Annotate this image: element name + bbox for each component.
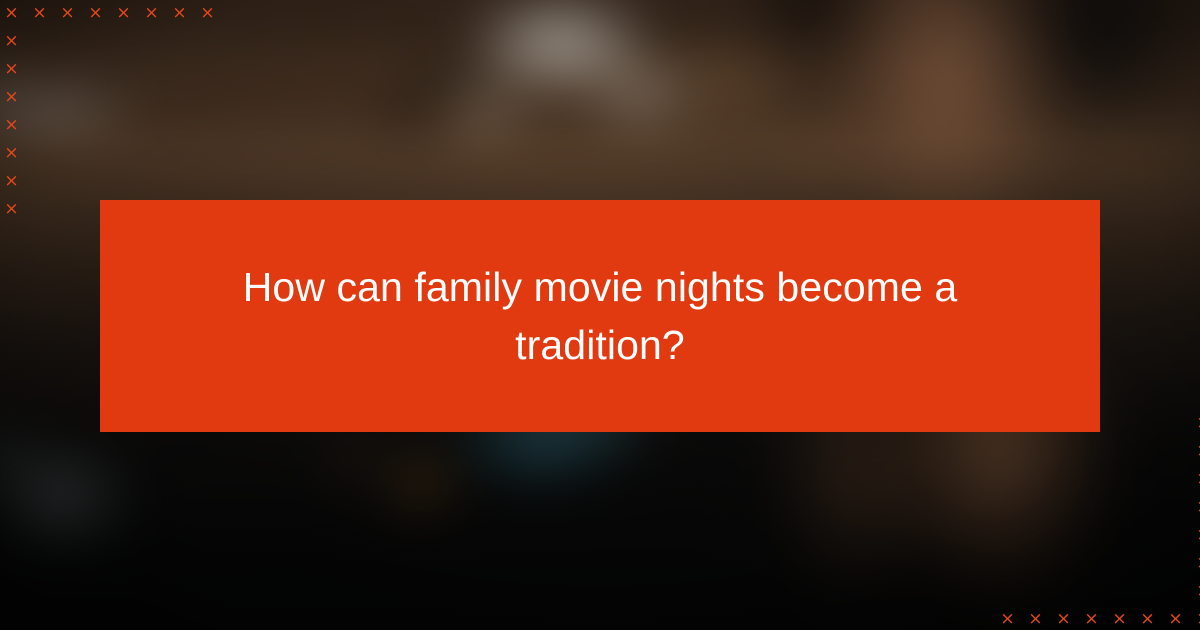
x-mark-icon: × [1196,528,1200,543]
x-mark-icon: × [1168,612,1183,627]
x-mark-icon: × [32,6,47,21]
x-mark-icon: × [1056,612,1071,627]
x-mark-icon: × [4,62,19,77]
banner-title: How can family movie nights become a tra… [220,258,980,374]
x-mark-icon: × [1196,556,1200,571]
x-mark-icon: × [4,174,19,189]
x-mark-icon: × [1196,500,1200,515]
x-mark-icon: × [4,6,19,21]
x-mark-icon: × [4,118,19,133]
x-mark-icon: × [4,90,19,105]
x-mark-icon: × [172,6,187,21]
x-mark-icon: × [1196,584,1200,599]
x-mark-icon: × [1028,612,1043,627]
x-mark-icon: × [88,6,103,21]
question-banner: How can family movie nights become a tra… [100,200,1100,432]
x-mark-icon: × [1196,612,1200,627]
x-mark-icon: × [1084,612,1099,627]
x-mark-icon: × [1196,472,1200,487]
x-mark-icon: × [200,6,215,21]
x-mark-icon: × [144,6,159,21]
x-mark-icon: × [4,202,19,217]
x-mark-icon: × [1196,444,1200,459]
x-mark-icon: × [1140,612,1155,627]
x-mark-icon: × [1000,612,1015,627]
x-mark-icon: × [1196,416,1200,431]
social-share-card: ××××××××××××××× ××××××××××××××× How can … [0,0,1200,630]
x-mark-icon: × [1112,612,1127,627]
x-mark-icon: × [4,34,19,49]
x-mark-icon: × [60,6,75,21]
x-mark-icon: × [116,6,131,21]
x-mark-icon: × [4,146,19,161]
